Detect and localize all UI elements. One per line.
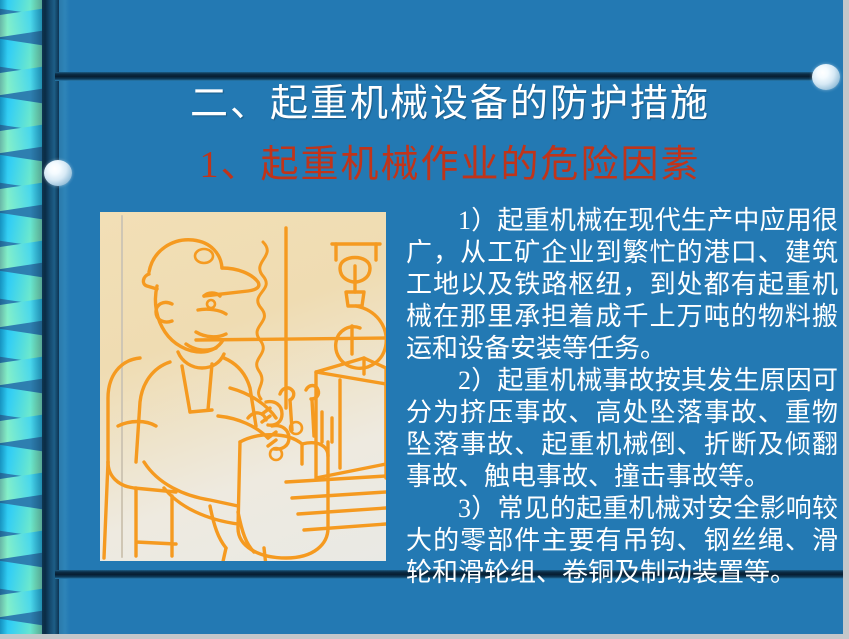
slide-subtitle: 1、起重机械作业的危险因素 xyxy=(70,143,830,187)
body-paragraph-1: 1）起重机械在现代生产中应用很广，从工矿企业到繁忙的港口、建筑工地以及铁路枢纽，… xyxy=(406,205,838,365)
crane-operator-cartoon-icon xyxy=(100,212,386,561)
top-divider-rule xyxy=(55,72,827,81)
crane-operator-illustration xyxy=(100,212,386,561)
sphere-ornament-left xyxy=(44,160,72,186)
body-paragraph-3: 3）常见的起重机械对安全影响较大的零部件主要有吊钩、钢丝绳、滑轮和滑轮组、卷铜及… xyxy=(406,493,838,589)
decorative-pillar-highlight xyxy=(59,0,70,639)
slide-title: 二、起重机械设备的防护措施 xyxy=(70,82,830,126)
presentation-slide: 二、起重机械设备的防护措施 1、起重机械作业的危险因素 xyxy=(0,0,849,639)
body-paragraph-2: 2）起重机械事故按其发生原因可分为挤压事故、高处坠落事故、重物坠落事故、起重机械… xyxy=(406,365,838,493)
body-text-block: 1）起重机械在现代生产中应用很广，从工矿企业到繁忙的港口、建筑工地以及铁路枢纽，… xyxy=(406,205,838,589)
decorative-pillar xyxy=(42,0,59,639)
decorative-ribbon-band xyxy=(0,0,42,639)
